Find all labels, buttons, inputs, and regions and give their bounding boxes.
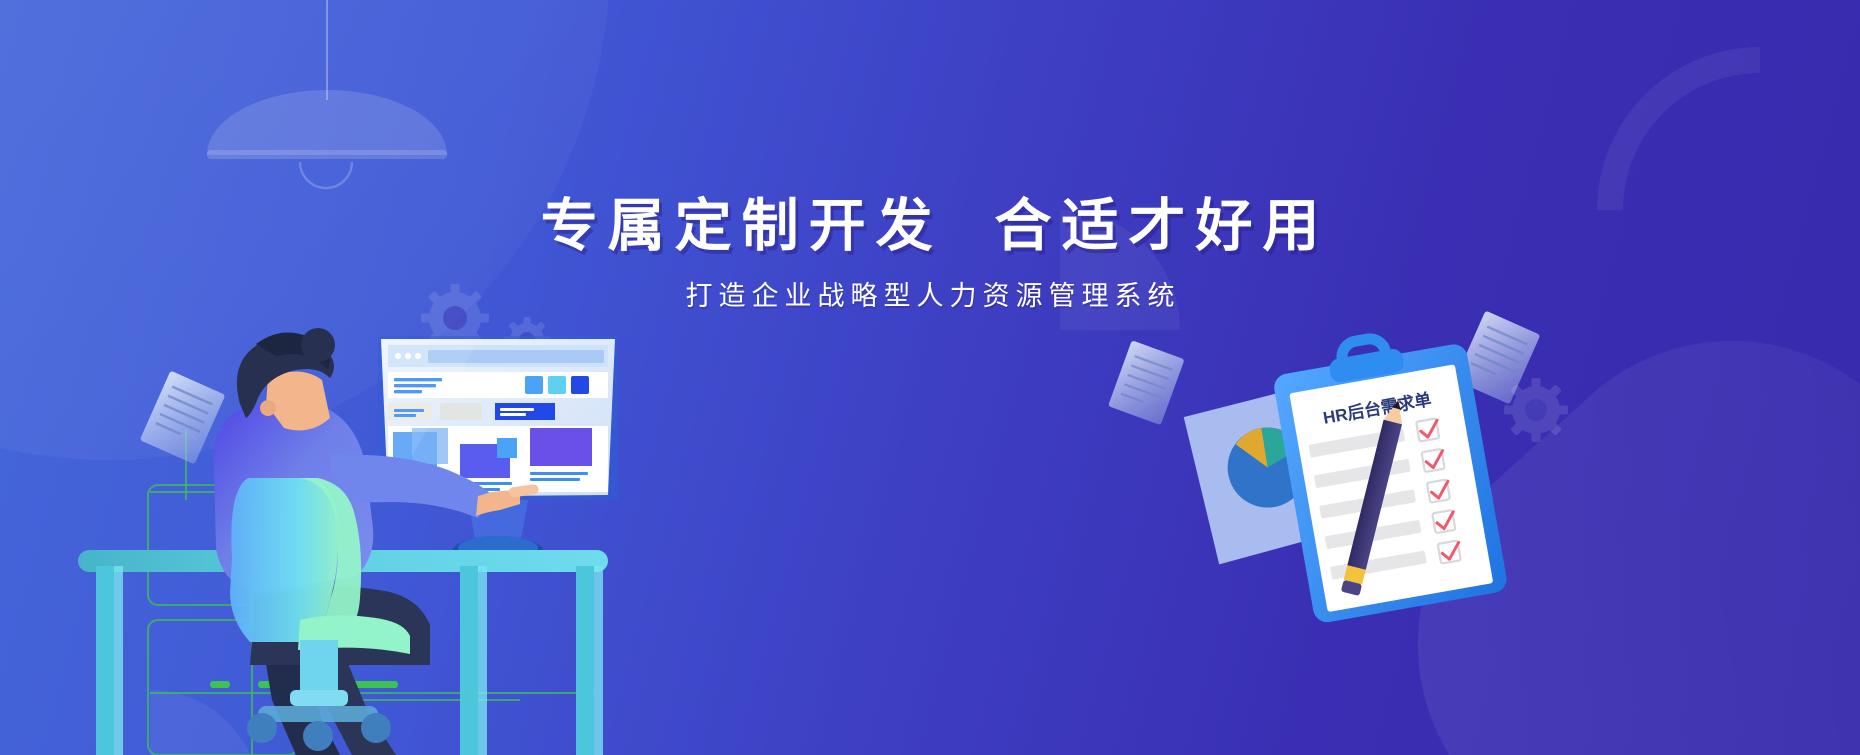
hr-requirements-clipboard: HR后台需求单 bbox=[0, 0, 1860, 755]
hero-banner: HR后台需求单 bbox=[0, 0, 1860, 755]
